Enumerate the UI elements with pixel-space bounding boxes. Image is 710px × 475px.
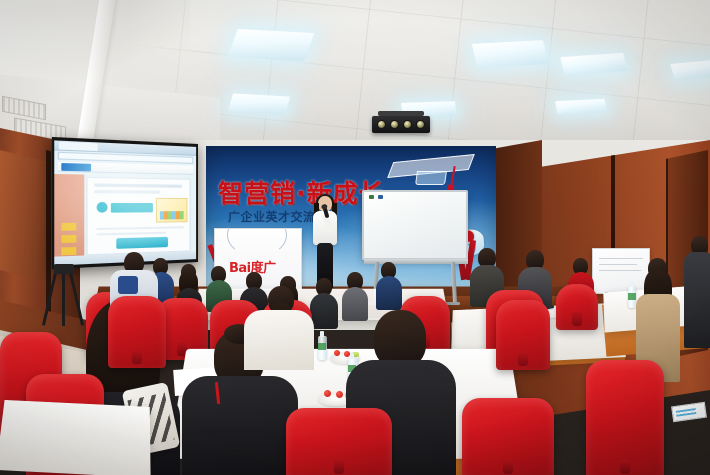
water-bottle xyxy=(628,286,636,308)
projected-webpage xyxy=(54,140,196,265)
audience-member xyxy=(310,278,338,326)
card-body-line xyxy=(97,226,184,230)
seminar-room-photo: 智营销·新成长 广企业英才交流会 xyxy=(0,0,710,475)
audience-member xyxy=(376,262,402,308)
tripod-head xyxy=(54,264,74,274)
projection-screen xyxy=(52,137,198,269)
product-name-text xyxy=(111,203,153,213)
jacket-badge xyxy=(118,276,138,294)
spotlight-icon xyxy=(416,120,425,129)
card-subheading-line xyxy=(94,190,160,194)
audience-member xyxy=(244,286,314,370)
page-left-banner xyxy=(54,174,84,257)
product-card xyxy=(87,177,191,256)
whiteboard xyxy=(362,190,468,260)
chair[interactable] xyxy=(496,300,550,370)
chair[interactable] xyxy=(108,296,166,368)
product-illustration xyxy=(156,198,188,223)
spotlight-icon xyxy=(377,120,386,129)
chair[interactable] xyxy=(586,360,664,475)
page-cta-button xyxy=(116,237,168,249)
spotlight-icon xyxy=(403,120,412,129)
strawberry xyxy=(334,350,340,356)
strawberry xyxy=(324,390,331,397)
spotlight-icon xyxy=(390,120,399,129)
chair[interactable] xyxy=(556,284,598,330)
booklet xyxy=(671,402,707,423)
chair[interactable] xyxy=(286,408,392,475)
poster-arc-graphic xyxy=(227,228,287,257)
ceiling-light-panel xyxy=(228,93,290,114)
ceiling-spotlight-bar xyxy=(372,116,430,133)
ceiling-light-panel xyxy=(228,29,315,61)
graduation-cap-icon xyxy=(392,154,470,188)
audience-member-standing xyxy=(684,236,710,346)
product-logo-icon xyxy=(97,202,108,213)
ceiling-light-panel xyxy=(670,60,710,80)
left-wall-panel-section xyxy=(0,150,48,282)
water-bottle xyxy=(318,336,327,360)
baidu-logo-icon xyxy=(61,163,91,171)
ceiling-light-panel xyxy=(555,99,607,115)
browser-tab xyxy=(59,142,98,151)
ceiling xyxy=(0,0,710,152)
banner-main-title: 智营销·新成长 xyxy=(218,174,385,210)
card-heading-line xyxy=(94,183,181,187)
card-body-line xyxy=(97,232,166,236)
chair[interactable] xyxy=(462,398,554,475)
strawberry xyxy=(336,391,343,398)
foreground-left-table xyxy=(0,400,151,475)
ceiling-light-panel xyxy=(472,40,548,68)
